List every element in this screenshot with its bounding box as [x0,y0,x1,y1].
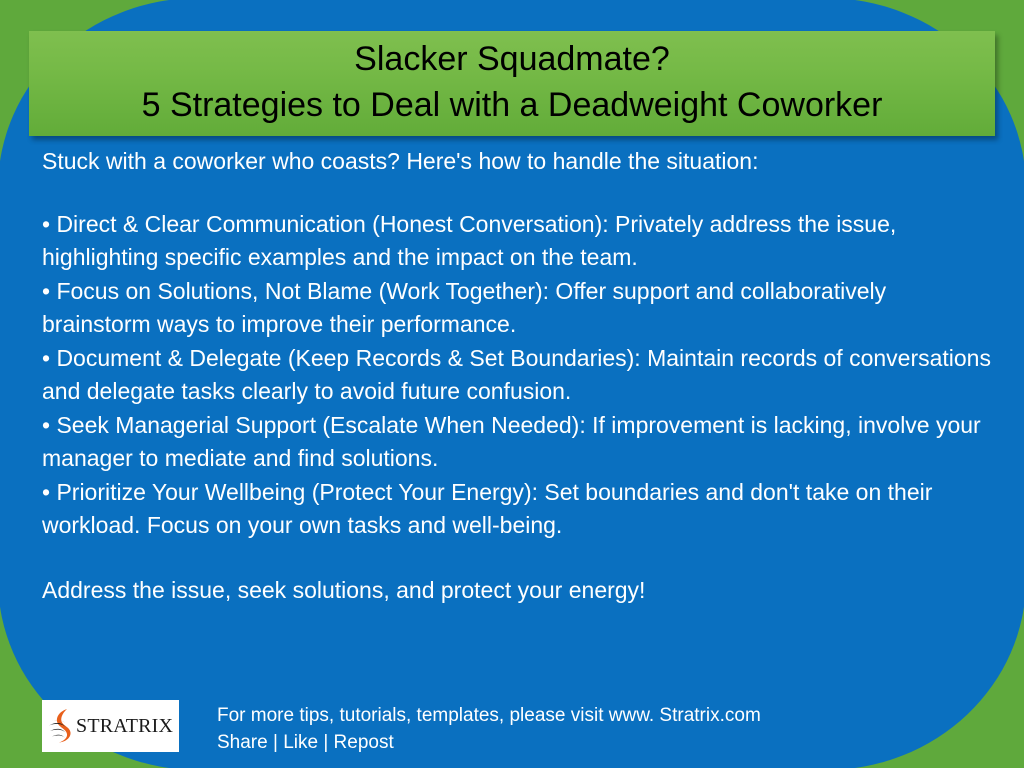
stratrix-wordmark: STRATRIX [76,715,173,738]
list-item: • Direct & Clear Communication (Honest C… [42,208,994,274]
list-item: • Focus on Solutions, Not Blame (Work To… [42,275,994,341]
footer-visit-line: For more tips, tutorials, templates, ple… [217,702,761,729]
body-content: Stuck with a coworker who coasts? Here's… [42,144,994,607]
list-item: • Document & Delegate (Keep Records & Se… [42,342,994,408]
footer: STRATRIX For more tips, tutorials, templ… [42,698,982,760]
title-line-1: Slacker Squadmate? [354,36,670,82]
stratrix-logo-icon [47,707,77,745]
footer-text: For more tips, tutorials, templates, ple… [217,702,761,756]
slide-canvas: Slacker Squadmate? 5 Strategies to Deal … [0,0,1024,768]
intro-line: Stuck with a coworker who coasts? Here's… [42,144,994,178]
stratrix-logo: STRATRIX [42,700,179,752]
list-item: • Prioritize Your Wellbeing (Protect You… [42,476,994,542]
list-item: • Seek Managerial Support (Escalate When… [42,409,994,475]
title-line-2: 5 Strategies to Deal with a Deadweight C… [142,82,883,128]
closing-line: Address the issue, seek solutions, and p… [42,574,994,607]
strategy-list: • Direct & Clear Communication (Honest C… [42,208,994,542]
title-banner: Slacker Squadmate? 5 Strategies to Deal … [29,31,995,136]
footer-share-line: Share | Like | Repost [217,729,761,756]
